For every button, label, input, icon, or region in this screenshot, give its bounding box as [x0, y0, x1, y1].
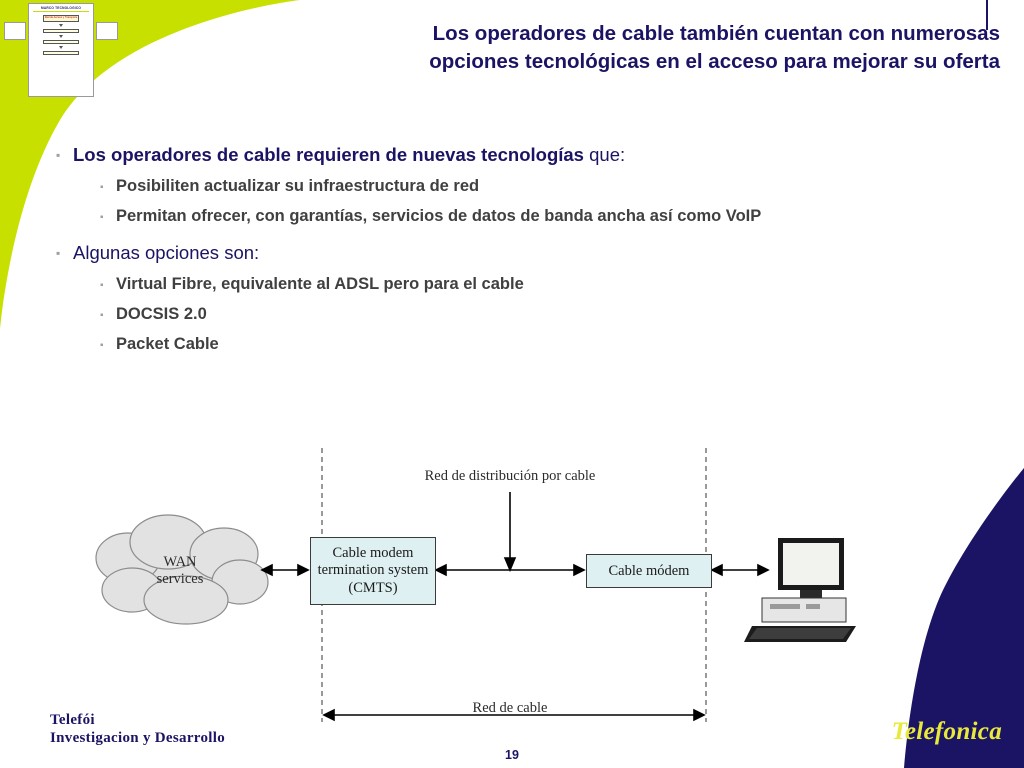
slide-thumbnail: MARCO TECNOLOGICO Red de Acceso y Transp…	[28, 3, 94, 97]
bullet-marker-icon: ▪	[100, 273, 116, 298]
bullet-item: ▪ Posibiliten actualizar su infraestruct…	[100, 175, 986, 200]
footer-brand-line1: Telefói	[50, 711, 225, 730]
thumbnail-box-3	[43, 40, 79, 44]
bullet-text-plain: que:	[584, 144, 625, 165]
thumbnail-arrow-3	[59, 46, 63, 49]
thumbnail-right-placeholder	[96, 22, 118, 40]
bullet-text: Permitan ofrecer, con garantías, servici…	[116, 205, 761, 228]
bullet-marker-icon: ▪	[100, 205, 116, 230]
cmts-box: Cable modem termination system (CMTS)	[310, 537, 436, 605]
bullet-text: DOCSIS 2.0	[116, 303, 207, 326]
bullet-text: Posibiliten actualizar su infraestructur…	[116, 175, 479, 198]
bullet-text-bold: Los operadores de cable requieren de nue…	[73, 144, 584, 165]
cloud-label: WAN services	[120, 554, 240, 589]
bullet-item: ▪ Packet Cable	[100, 333, 986, 358]
title-line2: opciones tecnológicas en el acceso para …	[429, 50, 1000, 73]
bullet-text: Packet Cable	[116, 333, 219, 356]
thumbnail-title: MARCO TECNOLOGICO	[29, 6, 93, 10]
bullet-item: ▪ Virtual Fibre, equivalente al ADSL per…	[100, 273, 986, 298]
slide-body: ▪ Los operadores de cable requieren de n…	[56, 142, 986, 363]
bullet-marker-icon: ▪	[56, 240, 73, 266]
telefonica-logo-text: Telefonica	[892, 718, 1002, 745]
thumbnail-arrow-1	[59, 24, 63, 27]
page-number: 19	[0, 748, 1024, 762]
cloud-label-line2: services	[157, 571, 204, 587]
cloud-label-line1: WAN	[163, 554, 196, 570]
cable-network-label: Red de cable	[390, 700, 630, 717]
footer-brand-line2: Investigacion y Desarrollo	[50, 729, 225, 748]
slide-title: Los operadores de cable también cuentan …	[216, 20, 1000, 75]
footer-brand: Telefói Investigacion y Desarrollo	[50, 711, 225, 749]
bullet-item: ▪ Los operadores de cable requieren de n…	[56, 142, 986, 169]
bullet-item: ▪ Permitan ofrecer, con garantías, servi…	[100, 205, 986, 230]
telefonica-logo: Telefonica	[892, 718, 1002, 746]
bullet-marker-icon: ▪	[100, 333, 116, 358]
title-line1-rest: también cuentan con numerosas	[674, 22, 1000, 45]
network-diagram: WAN services Cable modem termination sys…	[0, 430, 1024, 740]
bullet-text: Algunas opciones son:	[73, 240, 259, 267]
thumbnail-left-placeholder	[4, 22, 26, 40]
thumbnail-arrow-2	[59, 35, 63, 38]
bullet-text: Los operadores de cable requieren de nue…	[73, 142, 625, 169]
thumbnail-box-4	[43, 51, 79, 55]
computer-icon	[744, 538, 856, 642]
bullet-item: ▪ DOCSIS 2.0	[100, 303, 986, 328]
bullet-text: Virtual Fibre, equivalente al ADSL pero …	[116, 273, 524, 296]
thumbnail-divider	[33, 11, 89, 12]
thumbnail-box-1: Red de Acceso y Transporte	[43, 15, 79, 22]
bullet-marker-icon: ▪	[56, 142, 73, 168]
distribution-network-label: Red de distribución por cable	[380, 468, 640, 485]
bullet-item: ▪ Algunas opciones son:	[56, 240, 986, 267]
cable-modem-box: Cable módem	[586, 554, 712, 588]
bullet-marker-icon: ▪	[100, 303, 116, 328]
title-line1-bold: Los operadores de cable	[433, 22, 675, 45]
thumbnail-box-2	[43, 29, 79, 33]
bullet-marker-icon: ▪	[100, 175, 116, 200]
